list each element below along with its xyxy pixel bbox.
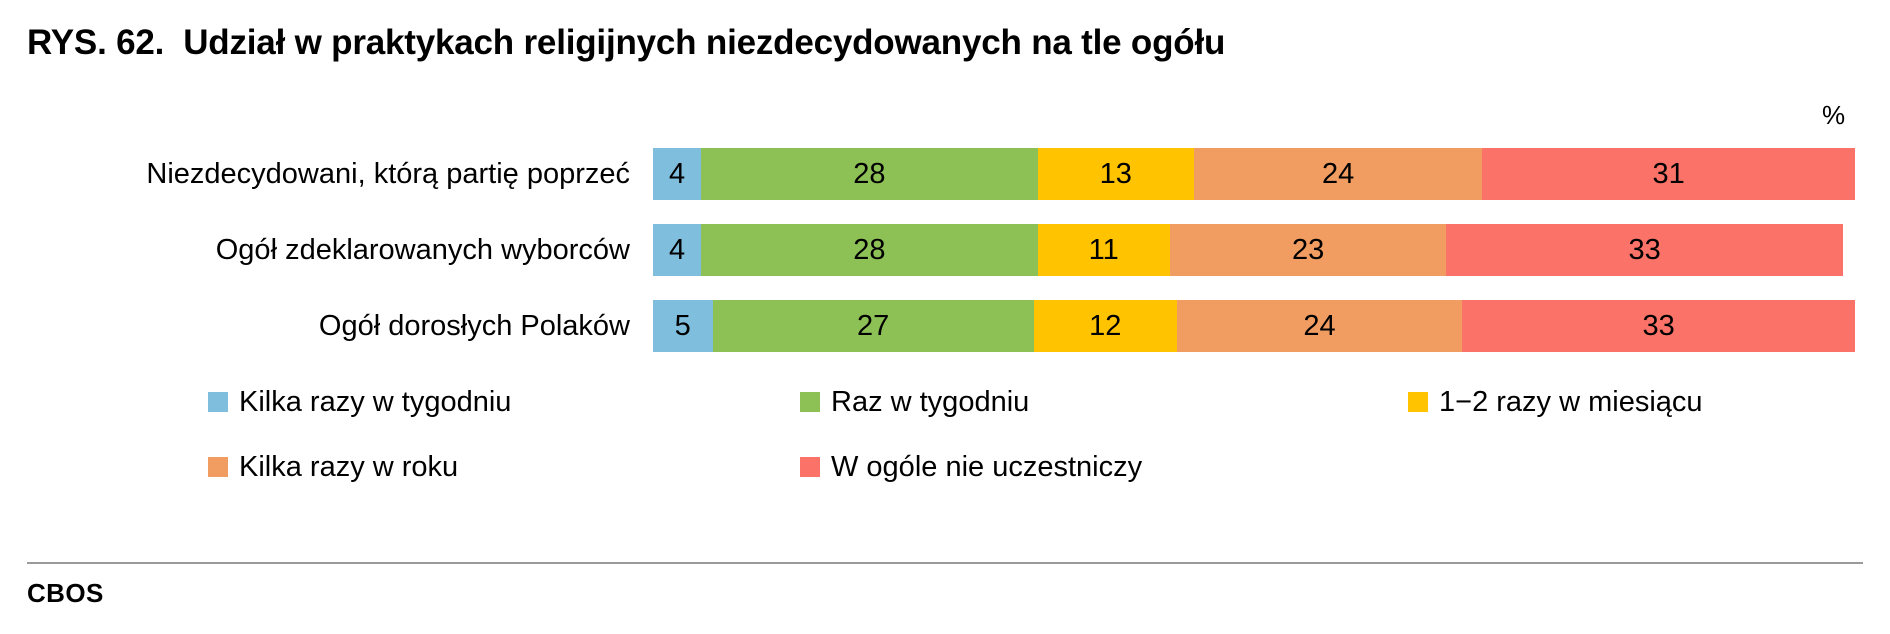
bar-value-label: 24	[1322, 158, 1354, 191]
bar-value-label: 28	[853, 234, 885, 267]
chart-row: Niezdecydowani, którą partię poprzeć 428…	[0, 148, 1890, 200]
bar-segment: 28	[701, 224, 1038, 276]
bar-value-label: 4	[669, 234, 685, 267]
bar-value-label: 13	[1100, 158, 1132, 191]
legend-item: 1−2 razy w miesiącu	[1408, 382, 1703, 422]
legend-swatch-icon	[1408, 392, 1428, 412]
footer-divider	[27, 562, 1863, 564]
stacked-bar: 428132431	[653, 148, 1855, 200]
bar-value-label: 24	[1303, 310, 1335, 343]
legend-label: 1−2 razy w miesiącu	[1439, 386, 1703, 418]
bar-value-label: 33	[1643, 310, 1675, 343]
legend-swatch-icon	[208, 457, 228, 477]
bar-segment: 4	[653, 148, 701, 200]
stacked-bar: 527122433	[653, 300, 1855, 352]
bar-value-label: 31	[1653, 158, 1685, 191]
bar-segment: 24	[1177, 300, 1463, 352]
bar-segment: 4	[653, 224, 701, 276]
legend-label: Raz w tygodniu	[831, 386, 1029, 418]
bar-segment: 31	[1482, 148, 1855, 200]
legend-label: Kilka razy w tygodniu	[239, 386, 511, 418]
bar-value-label: 23	[1292, 234, 1324, 267]
bar-value-label: 5	[675, 310, 691, 343]
bar-segment: 24	[1194, 148, 1482, 200]
legend-label: W ogóle nie uczestniczy	[831, 451, 1142, 483]
legend-item: Kilka razy w roku	[208, 447, 458, 487]
category-label: Ogół dorosłych Polaków	[0, 300, 630, 352]
chart-row: Ogół zdeklarowanych wyborców 428112333	[0, 224, 1890, 276]
bar-value-label: 12	[1089, 310, 1121, 343]
bar-segment: 23	[1170, 224, 1446, 276]
bar-value-label: 27	[857, 310, 889, 343]
legend-item: Kilka razy w tygodniu	[208, 382, 511, 422]
legend-swatch-icon	[208, 392, 228, 412]
bar-value-label: 11	[1089, 234, 1119, 267]
bar-segment: 33	[1446, 224, 1843, 276]
chart-legend: Kilka razy w tygodniu Raz w tygodniu 1−2…	[0, 380, 1890, 500]
legend-item: Raz w tygodniu	[800, 382, 1029, 422]
legend-swatch-icon	[800, 457, 820, 477]
bar-segment: 11	[1038, 224, 1170, 276]
bar-value-label: 33	[1628, 234, 1660, 267]
legend-swatch-icon	[800, 392, 820, 412]
category-label: Niezdecydowani, którą partię poprzeć	[0, 148, 630, 200]
bar-segment: 13	[1038, 148, 1194, 200]
bar-segment: 12	[1034, 300, 1177, 352]
bar-segment: 33	[1462, 300, 1855, 352]
chart-row: Ogół dorosłych Polaków 527122433	[0, 300, 1890, 352]
percent-unit-label: %	[1822, 100, 1845, 130]
category-label: Ogół zdeklarowanych wyborców	[0, 224, 630, 276]
bar-segment: 27	[713, 300, 1034, 352]
footer-brand: CBOS	[27, 578, 104, 608]
bar-segment: 5	[653, 300, 713, 352]
legend-item: W ogóle nie uczestniczy	[800, 447, 1142, 487]
bar-value-label: 4	[669, 158, 685, 191]
legend-label: Kilka razy w roku	[239, 451, 458, 483]
bar-value-label: 28	[853, 158, 885, 191]
stacked-bar: 428112333	[653, 224, 1855, 276]
bar-segment: 28	[701, 148, 1038, 200]
chart-plot-area: Niezdecydowani, którą partię poprzeć 428…	[0, 130, 1890, 370]
page-title: RYS. 62. Udział w praktykach religijnych…	[27, 22, 1225, 64]
